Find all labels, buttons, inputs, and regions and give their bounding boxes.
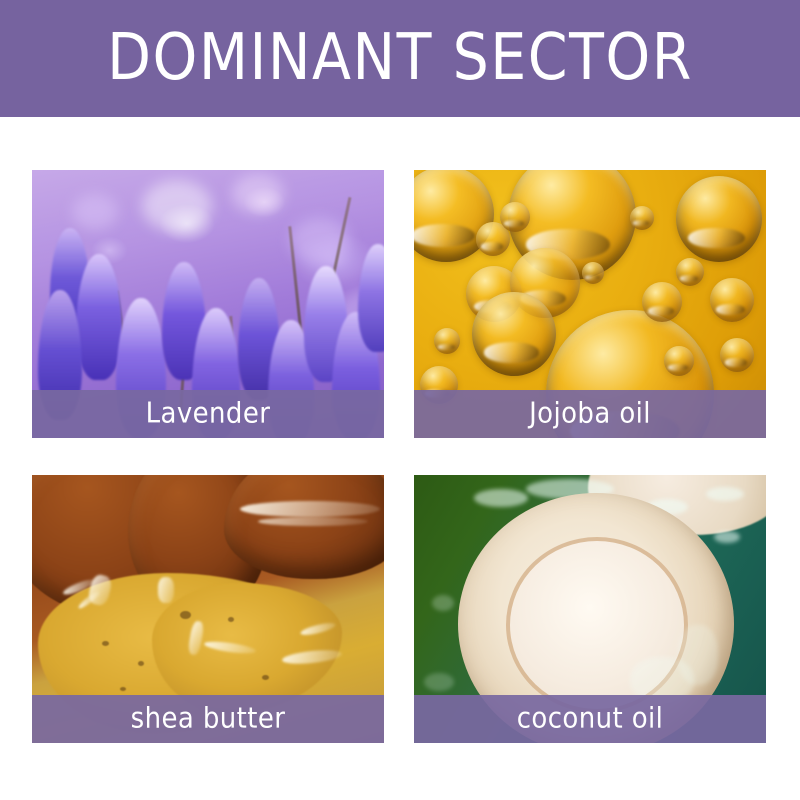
page-title: DOMINANT SECTOR — [107, 27, 693, 91]
card-label-text: Lavender — [146, 400, 271, 428]
ingredient-card-coconut-oil[interactable]: coconut oil — [414, 475, 766, 743]
card-label-text: coconut oil — [517, 705, 664, 733]
card-label-lavender: Lavender — [32, 390, 384, 438]
card-label-text: Jojoba oil — [529, 400, 651, 428]
ingredient-showcase-page: DOMINANT SECTOR — [0, 0, 800, 800]
ingredient-card-jojoba-oil[interactable]: Jojoba oil — [414, 170, 766, 438]
card-label-coconut-oil: coconut oil — [414, 695, 766, 743]
header-banner: DOMINANT SECTOR — [0, 0, 800, 117]
ingredient-card-lavender[interactable]: Lavender — [32, 170, 384, 438]
ingredient-card-shea-butter[interactable]: shea butter — [32, 475, 384, 743]
card-label-shea-butter: shea butter — [32, 695, 384, 743]
card-label-jojoba-oil: Jojoba oil — [414, 390, 766, 438]
ingredient-card-grid: Lavender — [32, 170, 768, 742]
card-label-text: shea butter — [131, 705, 286, 733]
